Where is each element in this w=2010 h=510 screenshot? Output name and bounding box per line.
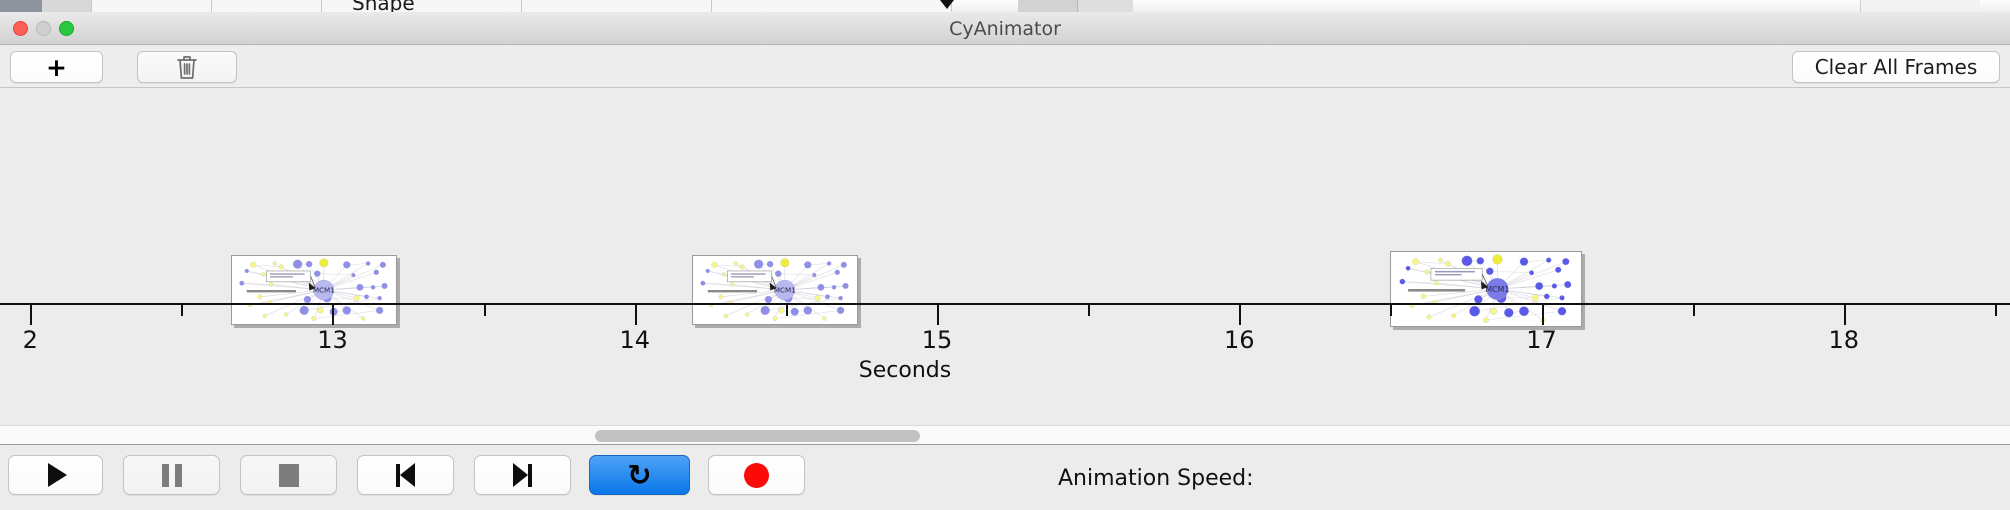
play-button[interactable] bbox=[8, 455, 103, 495]
loop-icon: ↻ bbox=[627, 461, 651, 490]
title-bar[interactable]: CyAnimator bbox=[0, 12, 2010, 45]
background-cursor-arrow bbox=[940, 0, 954, 9]
axis-tick-major bbox=[1844, 305, 1846, 325]
axis-tick-label: 17 bbox=[1526, 326, 1557, 354]
window-title: CyAnimator bbox=[0, 12, 2010, 45]
record-button[interactable] bbox=[708, 455, 805, 495]
axis-tick-minor bbox=[1995, 305, 1997, 316]
axis-tick-minor bbox=[181, 305, 183, 316]
skip-back-icon bbox=[396, 463, 415, 487]
axis-tick-label: 2 bbox=[23, 326, 38, 354]
svg-text:MCM1: MCM1 bbox=[774, 286, 796, 295]
stop-button[interactable] bbox=[240, 455, 337, 495]
loop-button[interactable]: ↻ bbox=[589, 455, 690, 495]
skip-forward-icon bbox=[513, 463, 532, 487]
axis-tick-minor bbox=[1088, 305, 1090, 316]
timeline-scrollbar-thumb[interactable] bbox=[595, 430, 920, 442]
timeline-panel[interactable]: MCM1MCM1MCM1 2131415161718 Seconds bbox=[0, 88, 2010, 425]
frame-thumbnails: MCM1MCM1MCM1 bbox=[0, 88, 2010, 303]
axis-tick-major bbox=[1239, 305, 1241, 325]
record-icon bbox=[744, 463, 769, 488]
axis-tick-minor bbox=[1390, 305, 1392, 316]
svg-text:MCM1: MCM1 bbox=[1485, 285, 1509, 294]
svg-text:MCM1: MCM1 bbox=[313, 286, 335, 295]
add-frame-button[interactable]: + bbox=[10, 51, 103, 83]
clear-all-frames-label: Clear All Frames bbox=[1815, 55, 1978, 79]
background-window-strip: Shape bbox=[0, 0, 2010, 12]
playback-control-bar: ↻ Animation Speed: bbox=[0, 446, 2010, 510]
skip-to-start-button[interactable] bbox=[357, 455, 454, 495]
delete-frame-button[interactable] bbox=[137, 51, 237, 83]
skip-to-end-button[interactable] bbox=[474, 455, 571, 495]
frame-toolbar: + Clear All Frames bbox=[0, 45, 2010, 88]
axis-tick-major bbox=[1542, 305, 1544, 325]
frame-thumbnail-2[interactable]: MCM1 bbox=[692, 255, 858, 325]
axis-tick-minor bbox=[1693, 305, 1695, 316]
axis-tick-label: 18 bbox=[1828, 326, 1859, 354]
axis-tick-label: 14 bbox=[619, 326, 650, 354]
pause-button[interactable] bbox=[123, 455, 220, 495]
axis-tick-major bbox=[635, 305, 637, 325]
cyanimator-window: Shape CyAnimator + Clear All Frames MCM1… bbox=[0, 0, 2010, 510]
clear-all-frames-button[interactable]: Clear All Frames bbox=[1792, 51, 2000, 83]
axis-tick-minor bbox=[786, 305, 788, 316]
pause-icon bbox=[162, 464, 182, 487]
timeline-axis bbox=[0, 303, 2010, 305]
play-icon bbox=[48, 463, 67, 487]
frame-thumbnail-1[interactable]: MCM1 bbox=[231, 255, 397, 325]
axis-tick-major bbox=[937, 305, 939, 325]
trash-icon bbox=[176, 54, 198, 80]
stop-icon bbox=[279, 464, 299, 487]
plus-icon: + bbox=[46, 55, 67, 80]
axis-tick-minor bbox=[484, 305, 486, 316]
timeline-scrollbar[interactable] bbox=[0, 425, 2010, 445]
axis-tick-label: 15 bbox=[922, 326, 953, 354]
axis-tick-major bbox=[332, 305, 334, 325]
axis-tick-label: 13 bbox=[317, 326, 348, 354]
background-shape-label: Shape bbox=[352, 0, 415, 12]
axis-tick-major bbox=[30, 305, 32, 325]
axis-tick-label: 16 bbox=[1224, 326, 1255, 354]
axis-title: Seconds bbox=[0, 358, 2010, 383]
frame-thumbnail-3[interactable]: MCM1 bbox=[1390, 251, 1582, 327]
animation-speed-label: Animation Speed: bbox=[1058, 466, 1254, 491]
